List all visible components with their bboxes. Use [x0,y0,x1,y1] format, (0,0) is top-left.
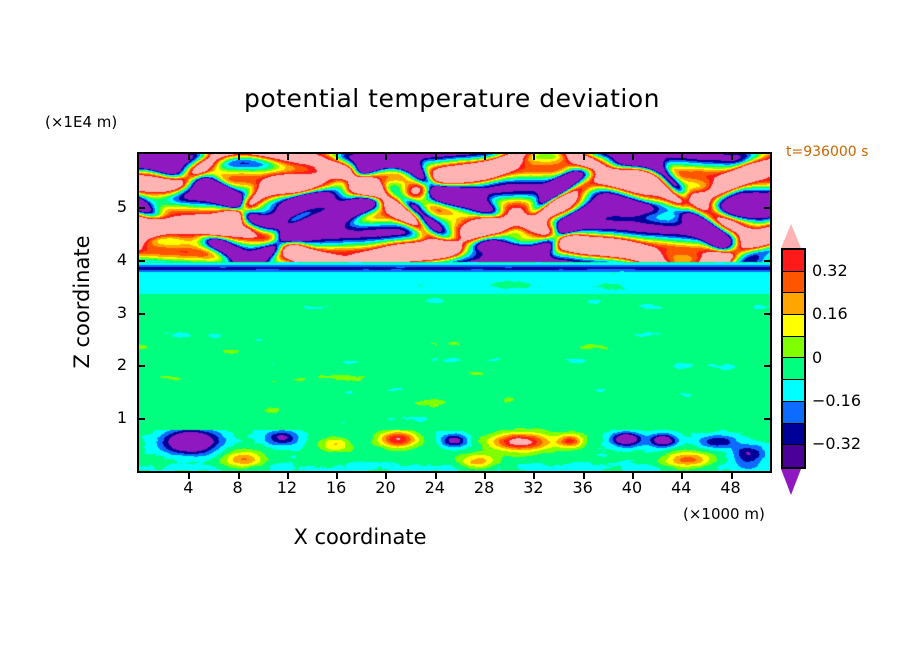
x-axis-title: X coordinate [0,525,720,549]
x-tick-mark-top [385,152,387,160]
x-tick-label: 24 [415,478,455,497]
y-axis-title: Z coordinate [70,212,94,392]
x-tick-label: 8 [218,478,258,497]
x-tick-mark-top [287,152,289,160]
y-tick-mark-right [764,207,772,209]
x-tick-label: 32 [513,478,553,497]
page-title: potential temperature deviation [0,84,904,113]
contour-plot-area [137,152,772,473]
x-tick-mark-top [336,152,338,160]
x-tick-label: 4 [168,478,208,497]
x-tick-label: 16 [316,478,356,497]
colorbar-band [783,250,804,272]
colorbar-band [783,402,804,424]
x-tick-mark-top [188,152,190,160]
x-tick-mark-top [533,152,535,160]
x-tick-mark-top [435,152,437,160]
colorbar-tick-label: −0.16 [812,391,861,410]
y-tick-mark-right [764,260,772,262]
y-tick-label: 4 [97,250,127,269]
y-tick-label: 1 [97,408,127,427]
colorbar [781,248,806,469]
x-tick-label: 44 [661,478,701,497]
colorbar-band [783,315,804,337]
y-tick-label: 5 [97,197,127,216]
x-tick-label: 28 [464,478,504,497]
x-tick-label: 48 [711,478,751,497]
x-axis-unit: (×1000 m) [683,505,765,523]
colorbar-over-arrow [781,224,801,248]
y-tick-mark [137,418,145,420]
y-tick-mark-right [764,418,772,420]
colorbar-band [783,293,804,315]
y-tick-mark [137,313,145,315]
y-tick-mark [137,207,145,209]
x-tick-label: 36 [563,478,603,497]
colorbar-band [783,358,804,380]
colorbar-tick-label: 0 [812,348,822,367]
timestamp-annotation: t=936000 s [786,144,868,160]
colorbar-band [783,445,804,467]
x-tick-mark-top [583,152,585,160]
colorbar-tick-label: 0.16 [812,304,848,323]
y-tick-mark-right [764,365,772,367]
x-tick-mark-top [681,152,683,160]
x-tick-mark-top [731,152,733,160]
y-tick-mark [137,260,145,262]
x-tick-mark-top [632,152,634,160]
colorbar-band [783,424,804,446]
colorbar-band [783,337,804,359]
contour-field [139,154,770,471]
y-tick-label: 3 [97,303,127,322]
colorbar-band [783,380,804,402]
y-tick-mark-right [764,313,772,315]
x-tick-mark-top [484,152,486,160]
y-tick-mark [137,365,145,367]
x-tick-mark-top [238,152,240,160]
y-axis-unit: (×1E4 m) [45,113,117,131]
x-tick-label: 40 [612,478,652,497]
colorbar-tick-label: 0.32 [812,261,848,280]
y-tick-label: 2 [97,355,127,374]
x-tick-label: 20 [365,478,405,497]
colorbar-under-arrow [781,469,801,495]
colorbar-tick-label: −0.32 [812,434,861,453]
colorbar-band [783,272,804,294]
x-tick-label: 12 [267,478,307,497]
